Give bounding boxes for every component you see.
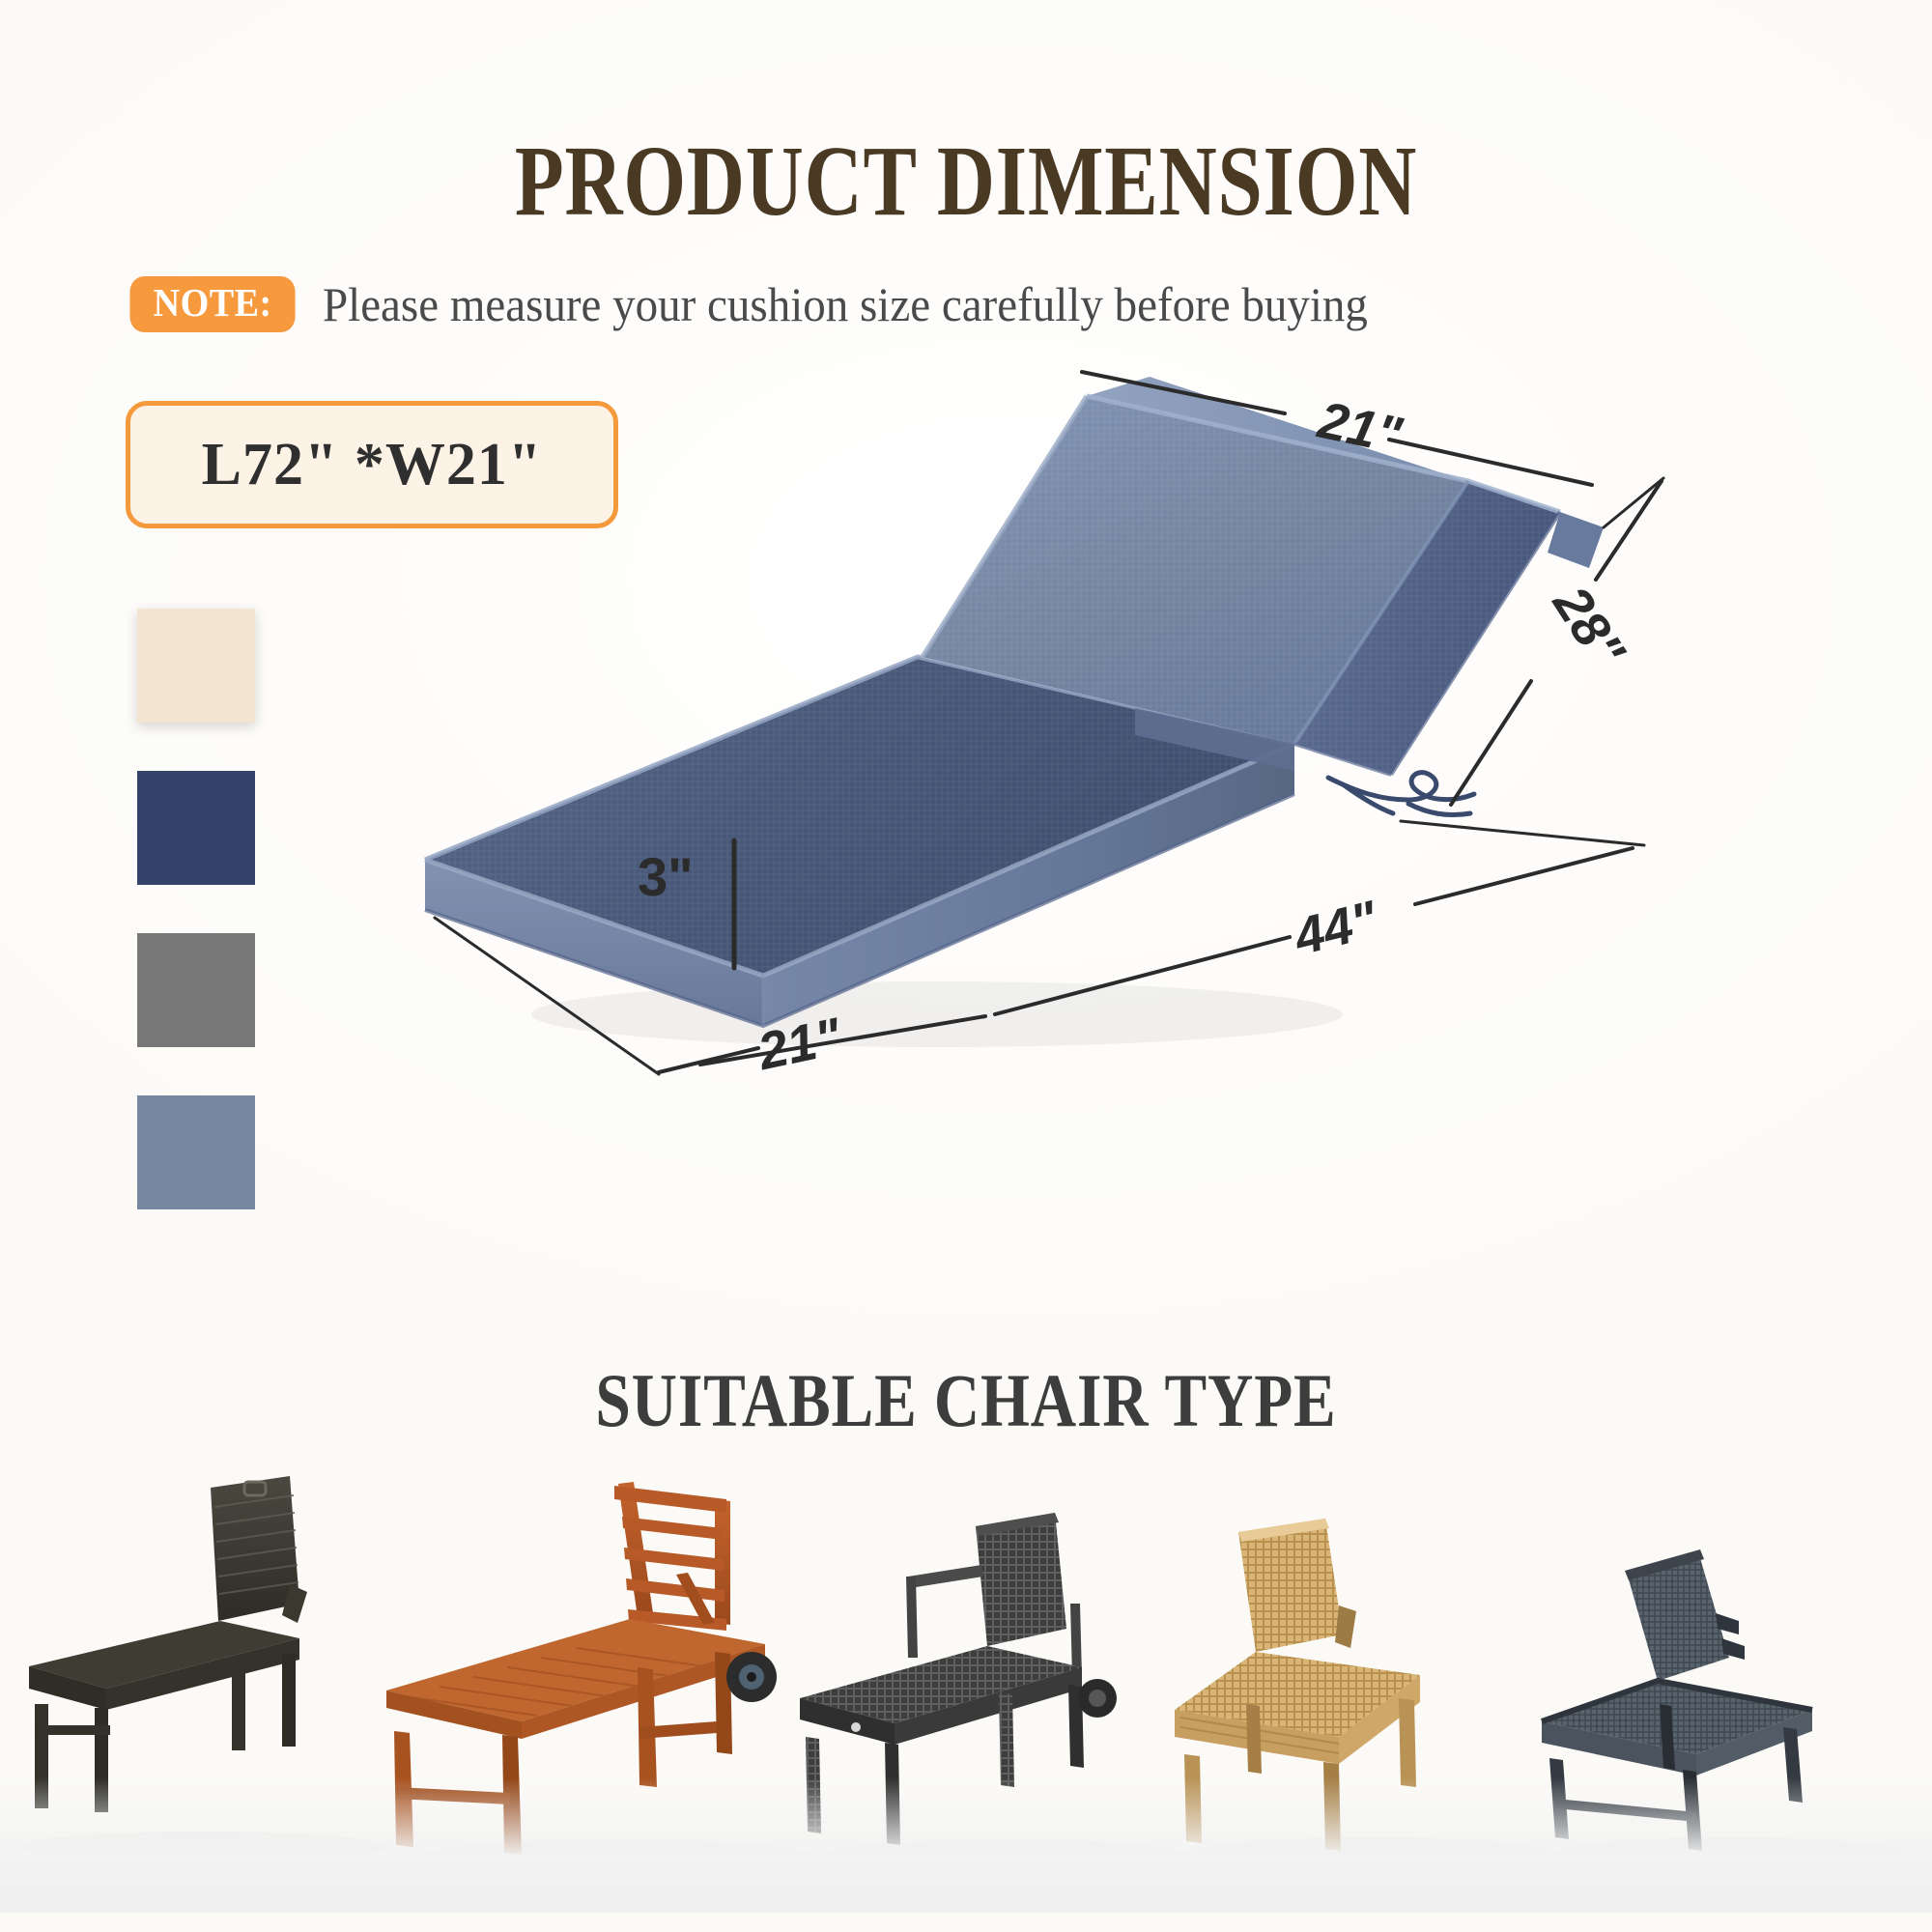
cushion-tie-straps [1328, 773, 1474, 815]
color-swatch-list [137, 609, 255, 1258]
note-badge: NOTE: [129, 276, 295, 332]
infographic-page: PRODUCT DIMENSION NOTE: Please measure y… [0, 0, 1932, 1932]
dimension-label-thickness: 3" [638, 845, 694, 908]
chair-floor [0, 1777, 1932, 1913]
color-swatch-beige[interactable] [137, 609, 255, 723]
page-title: PRODUCT DIMENSION [193, 124, 1739, 239]
note-text: Please measure your cushion size careful… [323, 276, 1368, 332]
note-row: NOTE: Please measure your cushion size c… [124, 276, 1435, 332]
color-swatch-gray[interactable] [137, 933, 255, 1047]
color-swatch-navy[interactable] [137, 771, 255, 885]
cushion-svg [319, 338, 1826, 1111]
suitable-chair-row [0, 1468, 1932, 1913]
product-illustration: 21" 28" 3" 21" 44" [319, 338, 1826, 1111]
suitable-chair-title: SUITABLE CHAIR TYPE [155, 1357, 1777, 1444]
color-swatch-blue-gray[interactable] [137, 1095, 255, 1209]
